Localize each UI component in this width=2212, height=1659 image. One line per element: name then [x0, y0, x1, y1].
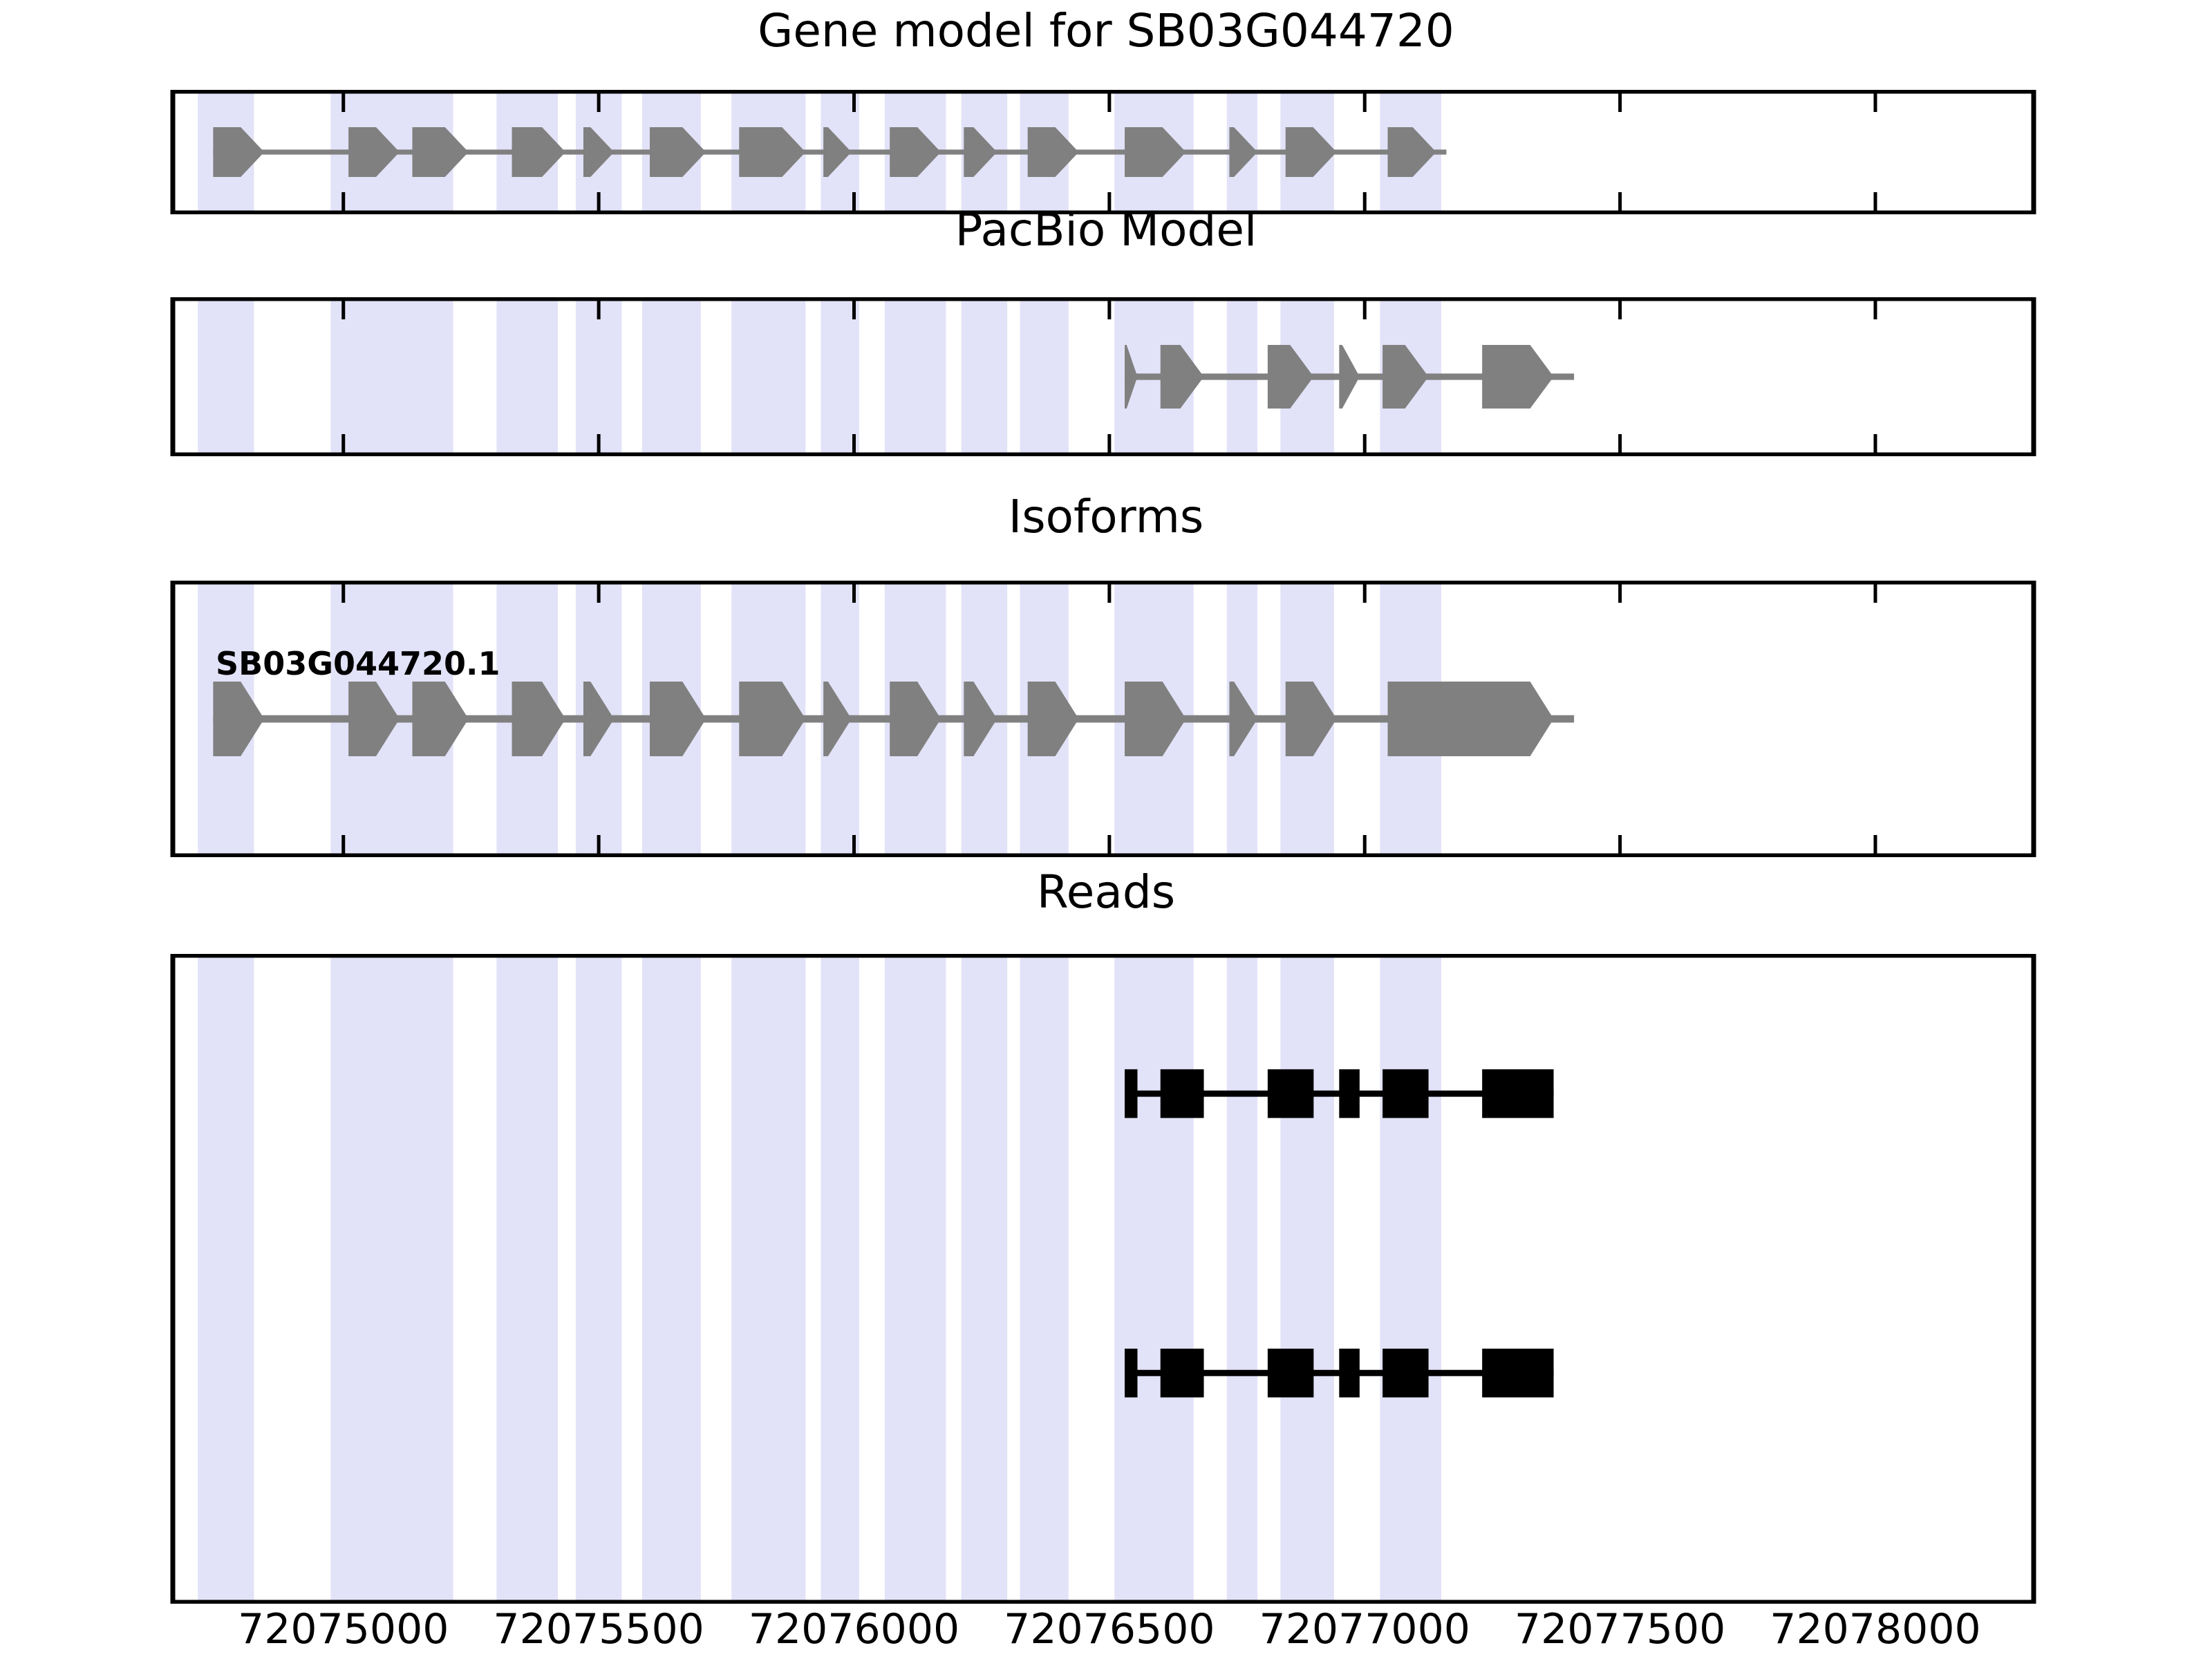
highlight-band	[1114, 955, 1194, 1602]
panel-plot-reads	[0, 954, 2212, 1604]
highlight-band	[330, 955, 400, 1602]
x-tick-label: 72076000	[749, 1605, 959, 1653]
panel-title-isoforms: Isoforms	[0, 494, 2212, 540]
read-block	[1125, 1069, 1137, 1118]
isoform-label: SB03G044720.1	[216, 645, 500, 682]
panel-title-gene-model: Gene model for SB03G044720	[0, 8, 2212, 54]
highlight-band	[885, 955, 946, 1602]
read-block	[1339, 1069, 1360, 1118]
exon-arrow	[1387, 682, 1553, 756]
highlight-band	[1280, 955, 1334, 1602]
highlight-band	[576, 955, 621, 1602]
x-tick-label: 72076500	[1004, 1605, 1215, 1653]
read-block	[1161, 1349, 1204, 1398]
read-block	[1125, 1349, 1137, 1398]
highlight-band	[731, 299, 805, 455]
read-block	[1382, 1069, 1428, 1118]
highlight-band	[1020, 955, 1069, 1602]
panel-content-gene-model	[173, 91, 2034, 213]
panel-content-pacbio-model	[173, 299, 2034, 455]
read-block	[1339, 1349, 1360, 1398]
exon-arrow	[213, 682, 264, 756]
x-tick-label: 72078000	[1770, 1605, 1980, 1653]
exon-arrow	[1339, 345, 1360, 409]
highlight-band	[198, 299, 254, 455]
read-block	[1482, 1069, 1553, 1118]
read-block	[1482, 1349, 1553, 1398]
read-block	[1382, 1349, 1428, 1398]
exon-arrow	[412, 127, 468, 177]
highlight-band	[885, 299, 946, 455]
highlight-band	[1020, 299, 1069, 455]
panel-title-reads: Reads	[0, 870, 2212, 915]
x-tick-label: 72077500	[1515, 1605, 1725, 1653]
highlight-band	[821, 955, 859, 1602]
exon-arrow	[1028, 127, 1079, 177]
exon-arrow	[213, 127, 264, 177]
highlight-band	[962, 299, 1007, 455]
read-block	[1161, 1069, 1204, 1118]
exon-arrow	[412, 682, 468, 756]
highlight-band	[400, 955, 453, 1602]
x-tick-label: 72075500	[493, 1605, 704, 1653]
exon-arrow	[1161, 345, 1204, 409]
exon-arrow	[1482, 345, 1553, 409]
highlight-band	[731, 955, 805, 1602]
exon-arrow	[1028, 682, 1079, 756]
highlight-band	[400, 299, 453, 455]
highlight-band	[576, 299, 621, 455]
x-axis-tick-labels: 7207500072075500720760007207650072077000…	[0, 1605, 2212, 1659]
highlight-band	[496, 955, 558, 1602]
x-tick-label: 72075000	[238, 1605, 449, 1653]
track-reads-0	[1125, 1069, 1554, 1118]
highlight-band	[821, 299, 859, 455]
panel-content-reads	[173, 955, 2034, 1602]
read-block	[1268, 1349, 1313, 1398]
highlight-band	[962, 955, 1007, 1602]
highlight-band	[1227, 955, 1257, 1602]
highlight-band	[642, 299, 701, 455]
highlight-band	[642, 955, 701, 1602]
panel-plot-pacbio-model	[0, 297, 2212, 456]
highlight-band	[496, 299, 558, 455]
highlight-band	[1380, 955, 1441, 1602]
panel-plot-isoforms: SB03G044720.1	[0, 581, 2212, 857]
highlight-band	[330, 299, 400, 455]
highlight-band	[198, 955, 254, 1602]
track-reads-1	[1125, 1349, 1554, 1398]
gene-browser-figure: Gene model for SB03G044720PacBio ModelIs…	[0, 0, 2212, 1659]
read-block	[1268, 1069, 1313, 1118]
panel-content-isoforms: SB03G044720.1	[173, 582, 2034, 856]
x-tick-label: 72077000	[1259, 1605, 1470, 1653]
panel-plot-gene-model	[0, 90, 2212, 214]
